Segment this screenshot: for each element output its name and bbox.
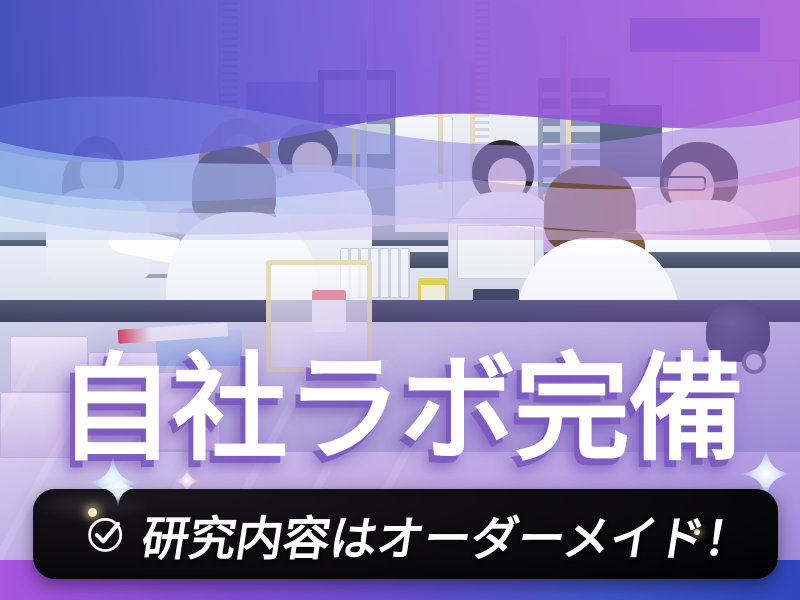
- wave-overlay-group: [0, 0, 800, 240]
- lab-promo-banner: 自社ラボ完備 研究内容はオーダーメイド！: [0, 0, 800, 600]
- subtitle-bar: 研究内容はオーダーメイド！: [33, 489, 778, 579]
- wave-accent-rect: [630, 18, 760, 52]
- subtitle-text: 研究内容はオーダーメイド！: [138, 500, 758, 569]
- page-headline: 自社ラボ完備: [0, 352, 800, 468]
- bar-highlight-dot: [88, 508, 97, 517]
